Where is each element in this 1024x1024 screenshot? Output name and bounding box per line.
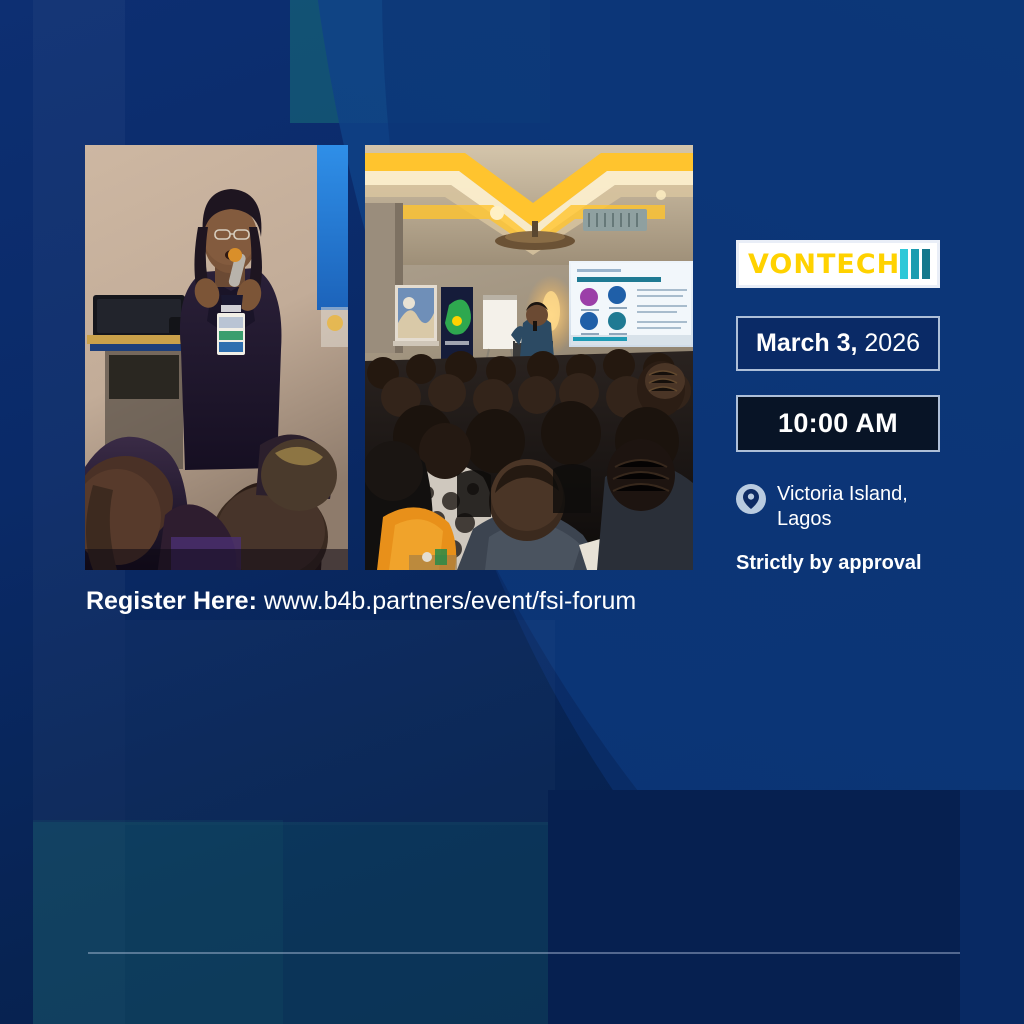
map-pin-icon [736, 484, 766, 514]
background-dark-block-edge [960, 790, 1024, 1024]
background-teal-rect-overlay [33, 820, 283, 1024]
event-info-column: VONTECH March 3, 2026 10:00 AM Victoria … [736, 240, 944, 575]
event-date-box: March 3, 2026 [736, 316, 940, 371]
background-soft-panel [125, 620, 555, 825]
event-location-row: Victoria Island, Lagos [736, 482, 944, 532]
footer-divider-line [88, 952, 960, 954]
conference-audience-photo [365, 145, 693, 570]
event-date-day: March 3, [756, 329, 857, 357]
background-dark-block [548, 790, 1024, 1024]
event-time-box: 10:00 AM [736, 395, 940, 452]
speaker-presenting-photo [85, 145, 348, 570]
event-date-year: 2026 [857, 329, 920, 357]
event-location-text: Victoria Island, Lagos [777, 482, 944, 532]
register-url[interactable]: www.b4b.partners/event/fsi-forum [257, 587, 636, 615]
logo-wordmark: VONTECH [748, 251, 900, 278]
register-label: Register Here: [86, 587, 257, 615]
event-time-text: 10:00 AM [778, 408, 898, 439]
register-line: Register Here: www.b4b.partners/event/fs… [86, 587, 636, 616]
event-date-text: March 3, 2026 [756, 329, 920, 358]
vontech-logo: VONTECH [736, 240, 940, 288]
event-admission-note: Strictly by approval [736, 552, 944, 575]
logo-bars-icon [900, 249, 930, 279]
